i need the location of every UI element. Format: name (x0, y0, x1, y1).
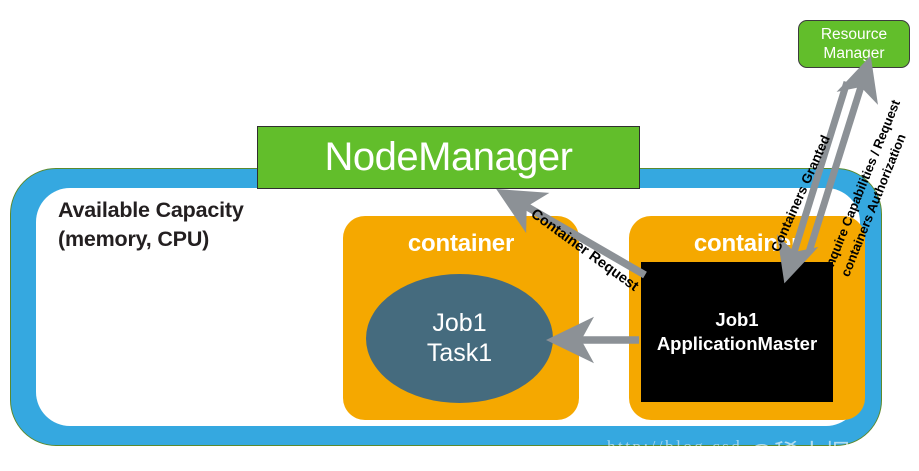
appmaster-name-label: ApplicationMaster (657, 332, 817, 356)
task-name-label: Task1 (427, 339, 492, 368)
resourcemanager-box: Resource Manager (798, 20, 910, 68)
nodemanager-box: NodeManager (257, 126, 640, 189)
diagram-canvas: Available Capacity (memory, CPU) contain… (0, 0, 919, 471)
container-left-title: container (343, 230, 579, 258)
available-capacity-line-1: Available Capacity (58, 196, 338, 225)
watermark-brand: @稀土掘金技术社区 (748, 434, 919, 470)
appmaster-job-label: Job1 (715, 308, 758, 332)
available-capacity-label: Available Capacity (memory, CPU) (58, 196, 338, 253)
resourcemanager-line-1: Resource (821, 25, 887, 44)
watermark-url: http://blog.csd (607, 437, 742, 457)
nodemanager-label: NodeManager (325, 135, 573, 180)
task-job-label: Job1 (432, 309, 486, 338)
application-master-box: Job1 ApplicationMaster (641, 262, 833, 402)
available-capacity-line-2: (memory, CPU) (58, 225, 338, 254)
task-ellipse: Job1 Task1 (366, 274, 553, 403)
resourcemanager-line-2: Manager (823, 44, 884, 63)
